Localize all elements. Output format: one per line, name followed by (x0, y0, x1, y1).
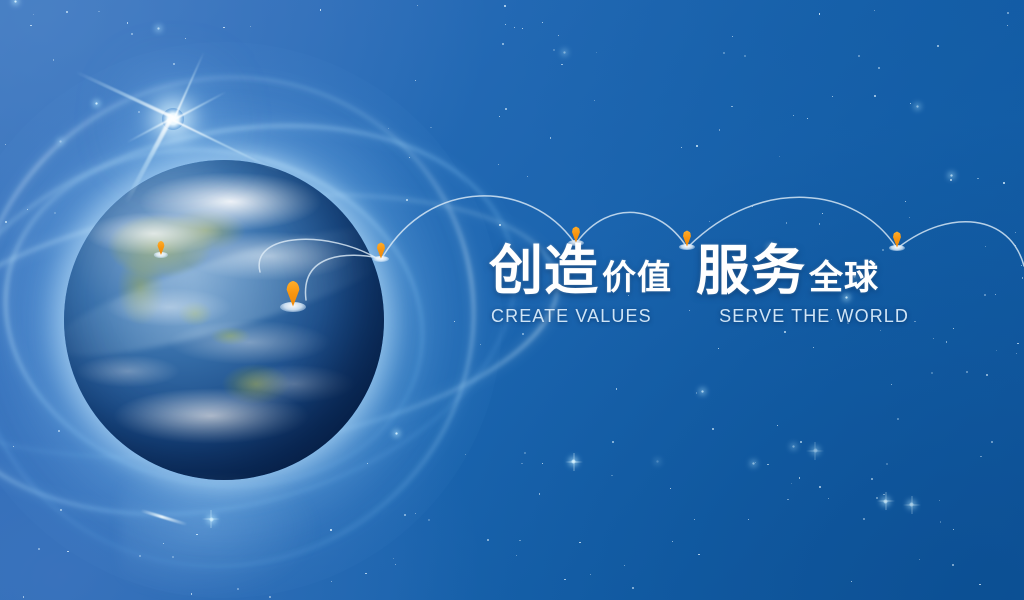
headline-phrase-2: 服务 全球 (696, 243, 879, 299)
subtitle-2: SERVE THE WORLD (719, 306, 909, 327)
subtitle-1: CREATE VALUES (491, 306, 652, 327)
banner-canvas: 创造 价值 服务 全球 CREATE VALUES SERVE THE WORL… (0, 0, 1024, 600)
headline-chinese: 创造 价值 服务 全球 (489, 243, 909, 299)
globe-sphere (64, 160, 384, 480)
headline-primary-2: 服务 (696, 243, 806, 299)
headline-english: CREATE VALUES SERVE THE WORLD (489, 306, 909, 327)
light-streak-glow (120, 480, 320, 600)
headline-phrase-1: 创造 价值 (489, 243, 672, 299)
headline-secondary-2: 全球 (809, 250, 879, 299)
headline-secondary-1: 价值 (602, 250, 672, 299)
headline-block: 创造 价值 服务 全球 CREATE VALUES SERVE THE WORL… (489, 243, 909, 327)
earth-globe (64, 160, 384, 480)
subtitle-gap (652, 306, 719, 327)
headline-primary-1: 创造 (489, 243, 599, 299)
